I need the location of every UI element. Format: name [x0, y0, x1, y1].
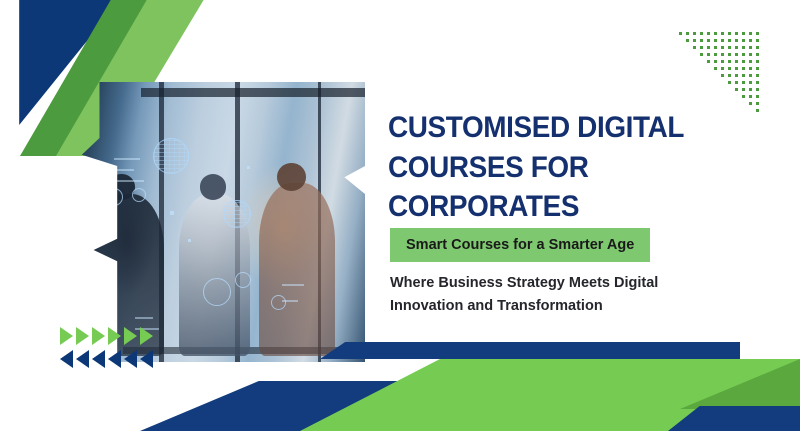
dot: [693, 46, 696, 49]
bottom-navy-thin-band-decoration: [320, 342, 740, 359]
dot-empty: [707, 102, 710, 105]
dot: [700, 32, 703, 35]
dot-empty: [686, 53, 689, 56]
dot-empty: [693, 102, 696, 105]
dot: [714, 53, 717, 56]
green-arrow-row-decoration: [60, 327, 153, 345]
dot: [742, 81, 745, 84]
dot: [756, 67, 759, 70]
dot-empty: [686, 95, 689, 98]
dot-empty: [679, 95, 682, 98]
dot-empty: [679, 81, 682, 84]
dot: [700, 39, 703, 42]
dot: [749, 81, 752, 84]
dot-empty: [686, 88, 689, 91]
dot: [707, 53, 710, 56]
dot-empty: [679, 102, 682, 105]
dot: [728, 46, 731, 49]
dot: [735, 46, 738, 49]
dot: [742, 53, 745, 56]
dot-empty: [742, 109, 745, 112]
dot-empty: [700, 95, 703, 98]
dot: [742, 95, 745, 98]
dot: [735, 81, 738, 84]
dot: [714, 32, 717, 35]
dot-empty: [707, 81, 710, 84]
dot: [742, 67, 745, 70]
dot: [749, 46, 752, 49]
arrow-right-icon: [124, 327, 137, 345]
dot-empty: [707, 74, 710, 77]
dot: [721, 32, 724, 35]
dot: [728, 67, 731, 70]
dot-empty: [714, 81, 717, 84]
dot: [756, 32, 759, 35]
dot-empty: [686, 81, 689, 84]
dot-empty: [735, 109, 738, 112]
dot: [742, 60, 745, 63]
dot: [756, 53, 759, 56]
dot-empty: [721, 95, 724, 98]
dot: [735, 39, 738, 42]
dot-empty: [714, 88, 717, 91]
photo-haze-overlay: [70, 82, 365, 362]
dot: [749, 67, 752, 70]
promo-banner: CUSTOMISED DIGITAL COURSES FOR CORPORATE…: [0, 0, 800, 431]
dot: [728, 81, 731, 84]
dot: [742, 46, 745, 49]
dot: [756, 81, 759, 84]
dot: [756, 95, 759, 98]
dot-empty: [679, 60, 682, 63]
dot-empty: [686, 46, 689, 49]
dot: [735, 53, 738, 56]
tagline-badge: Smart Courses for a Smarter Age: [390, 228, 650, 262]
dot: [749, 60, 752, 63]
navy-arrow-row-decoration: [60, 350, 153, 368]
arrow-right-icon: [92, 327, 105, 345]
dot: [721, 74, 724, 77]
dot: [742, 74, 745, 77]
dot-empty: [714, 95, 717, 98]
dot: [735, 67, 738, 70]
dot-empty: [700, 74, 703, 77]
dot-empty: [693, 53, 696, 56]
dot: [749, 74, 752, 77]
dot: [756, 60, 759, 63]
dot: [714, 60, 717, 63]
dot: [735, 74, 738, 77]
arrow-left-icon: [60, 350, 73, 368]
arrow-left-icon: [92, 350, 105, 368]
dot: [686, 39, 689, 42]
dot-empty: [728, 88, 731, 91]
dot-empty: [721, 81, 724, 84]
dot: [693, 39, 696, 42]
dot: [707, 32, 710, 35]
dot-empty: [700, 81, 703, 84]
dot: [742, 39, 745, 42]
dot-triangle-decoration: [679, 32, 762, 115]
dot: [756, 74, 759, 77]
dot-empty: [693, 88, 696, 91]
dot: [707, 60, 710, 63]
dot-empty: [700, 88, 703, 91]
dot-empty: [749, 109, 752, 112]
dot-empty: [693, 67, 696, 70]
photo-image: [70, 82, 365, 362]
dot: [686, 32, 689, 35]
dot: [749, 95, 752, 98]
dot: [749, 102, 752, 105]
dot: [721, 60, 724, 63]
dot-empty: [728, 102, 731, 105]
dot-empty: [693, 74, 696, 77]
dot-empty: [679, 74, 682, 77]
dot: [707, 39, 710, 42]
page-title: CUSTOMISED DIGITAL COURSES FOR CORPORATE…: [388, 108, 734, 227]
dot: [700, 53, 703, 56]
dot: [735, 60, 738, 63]
dot-empty: [714, 102, 717, 105]
dot: [707, 46, 710, 49]
dot: [742, 88, 745, 91]
business-team-digital-interface-photo: [70, 82, 365, 362]
dot-empty: [686, 67, 689, 70]
dot: [714, 46, 717, 49]
dot: [749, 88, 752, 91]
dot-empty: [714, 74, 717, 77]
dot-empty: [679, 67, 682, 70]
dot: [721, 67, 724, 70]
dot-empty: [707, 95, 710, 98]
dot-empty: [707, 88, 710, 91]
arrow-right-icon: [76, 327, 89, 345]
dot-empty: [693, 81, 696, 84]
dot: [756, 46, 759, 49]
dot: [756, 88, 759, 91]
dot-empty: [693, 60, 696, 63]
arrow-right-icon: [60, 327, 73, 345]
arrow-left-icon: [76, 350, 89, 368]
dot-empty: [693, 95, 696, 98]
dot: [756, 109, 759, 112]
dot: [728, 60, 731, 63]
dot: [756, 102, 759, 105]
dot-empty: [721, 88, 724, 91]
arrow-left-icon: [140, 350, 153, 368]
subtitle-text: Where Business Strategy Meets Digital In…: [390, 272, 710, 319]
dot-empty: [721, 102, 724, 105]
arrow-left-icon: [124, 350, 137, 368]
dot-empty: [686, 60, 689, 63]
dot-empty: [735, 102, 738, 105]
dot: [679, 32, 682, 35]
dot: [742, 32, 745, 35]
dot: [714, 39, 717, 42]
dot: [721, 46, 724, 49]
dot-empty: [735, 95, 738, 98]
dot: [735, 88, 738, 91]
dot: [749, 32, 752, 35]
dot-empty: [679, 46, 682, 49]
dot-empty: [742, 102, 745, 105]
dot: [749, 39, 752, 42]
dot: [735, 32, 738, 35]
dot-empty: [679, 53, 682, 56]
dot: [728, 32, 731, 35]
dot-empty: [700, 102, 703, 105]
dot-empty: [679, 88, 682, 91]
dot-empty: [728, 95, 731, 98]
arrow-right-icon: [140, 327, 153, 345]
dot: [728, 39, 731, 42]
dot-empty: [707, 67, 710, 70]
dot: [693, 32, 696, 35]
dot: [756, 39, 759, 42]
dot: [749, 53, 752, 56]
dot: [728, 53, 731, 56]
dot: [721, 39, 724, 42]
arrow-right-icon: [108, 327, 121, 345]
dot-empty: [700, 67, 703, 70]
dot: [700, 46, 703, 49]
dot-empty: [686, 74, 689, 77]
dot: [728, 74, 731, 77]
dot-empty: [700, 60, 703, 63]
dot: [721, 53, 724, 56]
dot: [714, 67, 717, 70]
dot-empty: [679, 39, 682, 42]
dot-empty: [686, 102, 689, 105]
arrow-left-icon: [108, 350, 121, 368]
